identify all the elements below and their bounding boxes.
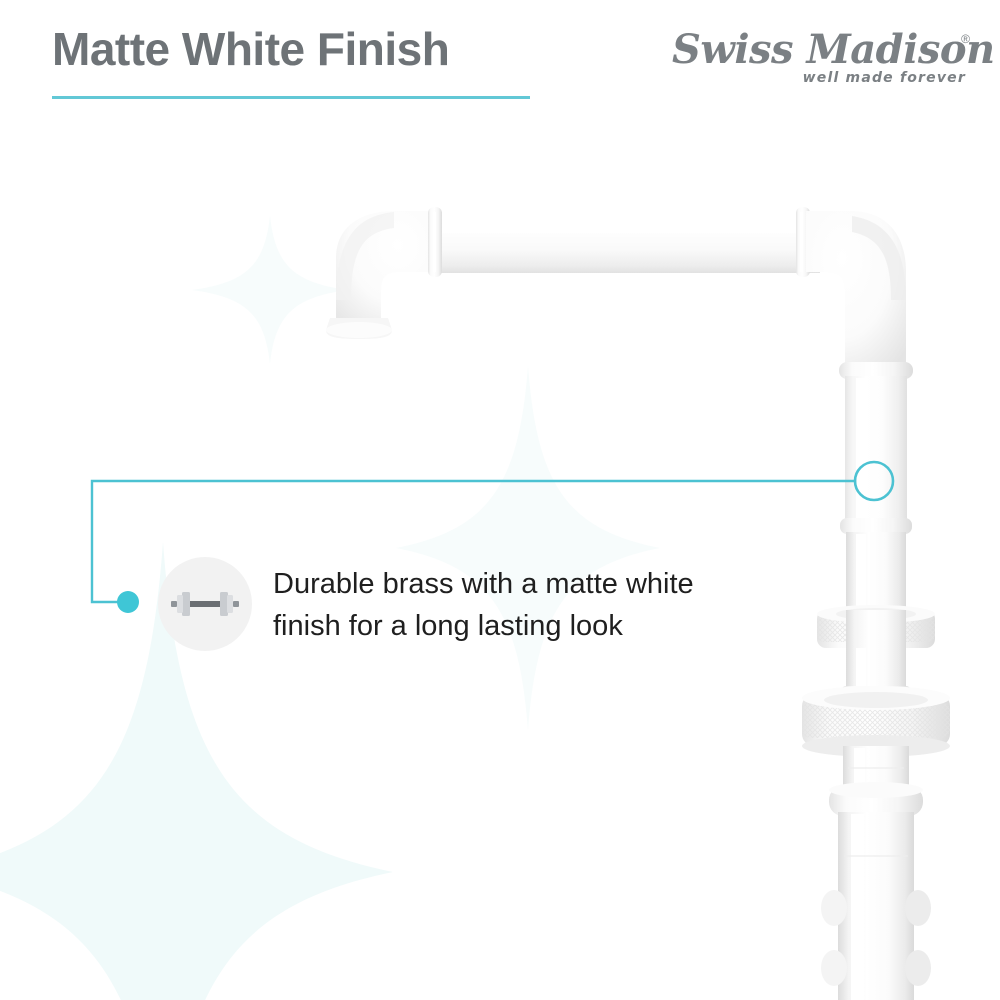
callout-text-block: Durable brass with a matte white finish … [273, 563, 793, 647]
spout-barrel-highlight [432, 219, 818, 233]
page-title: Matte White Finish [52, 22, 449, 76]
callout-icon-badge [158, 557, 252, 651]
vertical-tube-base [838, 812, 914, 1000]
brand-tagline: well made forever [803, 70, 966, 86]
faucet-horizontal-spout [326, 207, 906, 370]
dumbbell-icon [169, 584, 241, 624]
vertical-tube-upper [845, 376, 907, 524]
faucet-vertical-body [802, 362, 950, 1000]
brand-name: Swiss Madison [672, 26, 972, 73]
product-image-faucet [0, 0, 1000, 1000]
product-feature-card: Matte White Finish Swiss Madison ® well … [0, 0, 1000, 1000]
brand-logo: Swiss Madison ® well made forever [672, 26, 972, 100]
vertical-mid-collar [840, 518, 912, 534]
title-underline-rule [52, 96, 530, 99]
union-nut-bulge [829, 782, 923, 816]
vertical-tube-base-highlight [851, 814, 864, 1000]
vertical-tube-upper-highlight [856, 378, 867, 524]
spout-collar-left [428, 207, 442, 277]
spout-outlet-opening [326, 322, 392, 338]
registered-trademark-icon: ® [961, 32, 970, 46]
knurled-collar-upper [817, 605, 935, 650]
callout-text-line-1: Durable brass with a matte white [273, 563, 793, 605]
callout-text-line-2: finish for a long lasting look [273, 605, 793, 647]
